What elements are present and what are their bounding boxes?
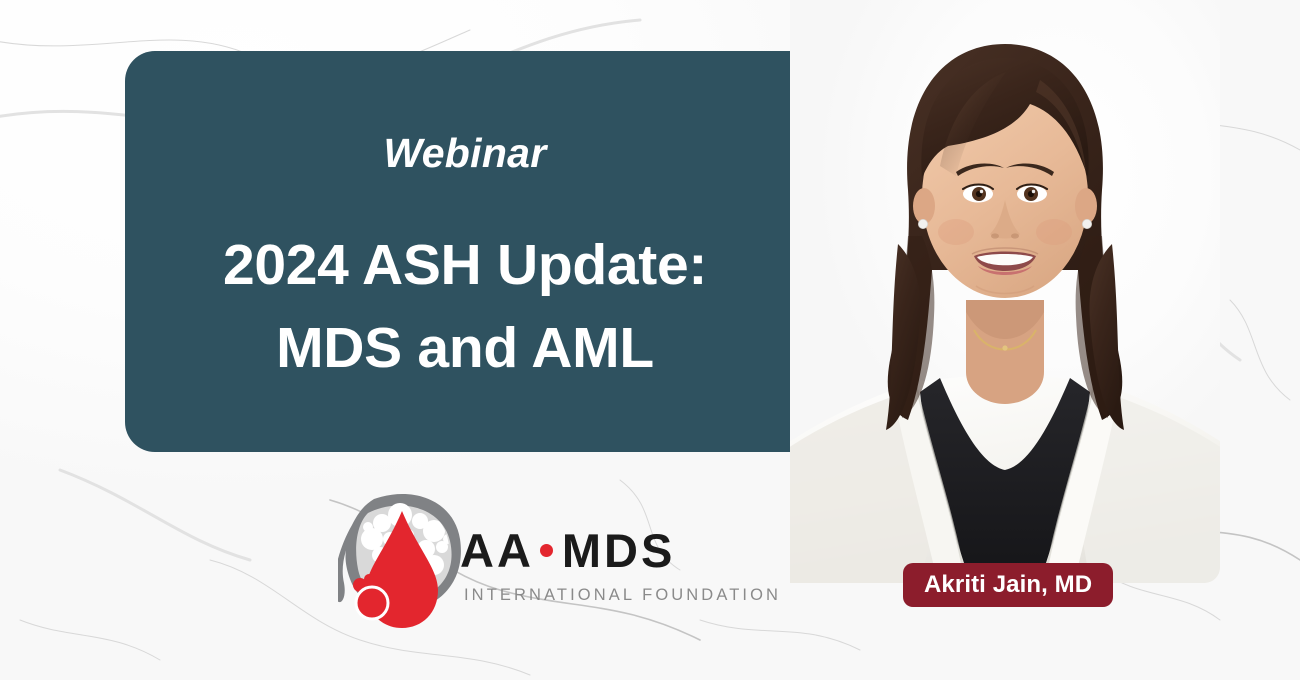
page-title: 2024 ASH Update: MDS and AML: [223, 224, 707, 389]
blood-drop-marrow-icon: [338, 487, 466, 632]
logo-name: AA MDS: [460, 527, 710, 574]
speaker-portrait: [790, 0, 1220, 583]
logo-name-part2: MDS: [562, 527, 675, 574]
logo-tagline: INTERNATIONAL FOUNDATION: [464, 586, 710, 605]
title-line-1: 2024 ASH Update:: [223, 233, 707, 297]
title-card-content: Webinar 2024 ASH Update: MDS and AML: [125, 51, 805, 452]
logo-wordmark: AA MDS INTERNATIONAL FOUNDATION: [460, 527, 710, 605]
webinar-promo-graphic: Webinar 2024 ASH Update: MDS and AML: [0, 0, 1300, 680]
speaker-name-badge: Akriti Jain, MD: [903, 563, 1113, 607]
speaker-name-label: Akriti Jain, MD: [924, 571, 1092, 599]
title-line-2: MDS and AML: [223, 307, 707, 390]
kicker-label: Webinar: [383, 133, 546, 174]
earring: [918, 219, 927, 228]
logo-circle-outline: [356, 587, 388, 619]
logo-separator-dot: [540, 544, 553, 557]
speaker-photo-illustration: [790, 0, 1220, 583]
logo-name-part1: AA: [460, 527, 534, 574]
aamds-logo: AA MDS INTERNATIONAL FOUNDATION: [338, 487, 710, 632]
